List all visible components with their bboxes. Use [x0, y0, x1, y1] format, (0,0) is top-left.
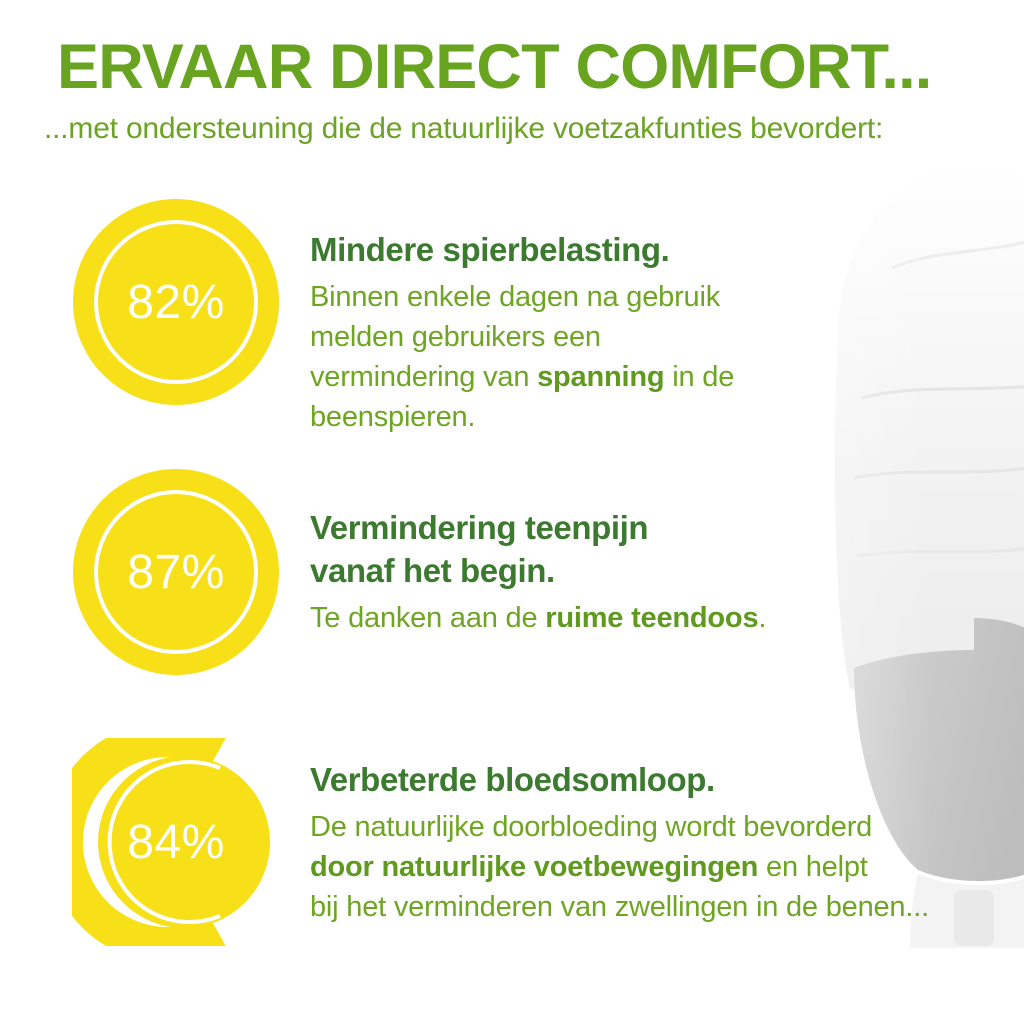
stat-body-line: melden gebruikers een: [310, 321, 601, 353]
stat-emphasis: spanning: [537, 361, 664, 393]
stat-body: De natuurlijke doorbloeding wordt bevord…: [310, 801, 1024, 927]
stat-badge-82: 82%: [72, 198, 280, 406]
infographic-page: ERVAAR DIRECT COMFORT... ...met onderste…: [0, 0, 1024, 1024]
stat-badge-87: 87%: [72, 468, 280, 676]
stat-percentage: 82%: [72, 198, 280, 406]
stat-body: Binnen enkele dagen na gebruik melden ge…: [310, 271, 1024, 437]
stat-body-line: vermindering van spanning in de: [310, 361, 734, 393]
stat-heading-line: Vermindering teenpijn: [310, 509, 648, 546]
stat-body-line: Binnen enkele dagen na gebruik: [310, 281, 720, 313]
stat-body: Te danken aan de ruime teendoos.: [310, 592, 1024, 638]
header: ERVAAR DIRECT COMFORT... ...met onderste…: [0, 30, 1024, 148]
stat-body-line: bij het verminderen van zwellingen in de…: [310, 891, 929, 923]
stat-body-line: De natuurlijke doorbloeding wordt bevord…: [310, 811, 872, 843]
stat-text-block: Verbeterde bloedsomloop. De natuurlijke …: [310, 758, 1024, 927]
stat-body-line: beenspieren.: [310, 401, 475, 433]
stat-body-line: Te danken aan de ruime teendoos.: [310, 602, 766, 634]
stat-emphasis: door natuurlijke voetbewegingen: [310, 851, 758, 883]
stat-text-block: Vermindering teenpijn vanaf het begin. T…: [310, 506, 1024, 638]
stat-percentage: 87%: [72, 468, 280, 676]
page-subtitle: ...met ondersteuning die de natuurlijke …: [0, 104, 1024, 148]
stat-text-block: Mindere spierbelasting. Binnen enkele da…: [310, 228, 1024, 437]
stat-body-line: door natuurlijke voetbewegingen en helpt: [310, 851, 868, 883]
stat-emphasis: ruime teendoos: [545, 602, 758, 634]
page-title: ERVAAR DIRECT COMFORT...: [0, 30, 1024, 104]
stat-percentage: 84%: [72, 738, 280, 946]
stat-heading-line: vanaf het begin.: [310, 552, 555, 589]
stat-heading: Mindere spierbelasting.: [310, 228, 1024, 271]
stat-heading: Verbeterde bloedsomloop.: [310, 758, 1024, 801]
stat-badge-84: 84%: [72, 738, 280, 946]
stat-heading: Vermindering teenpijn vanaf het begin.: [310, 506, 1024, 592]
